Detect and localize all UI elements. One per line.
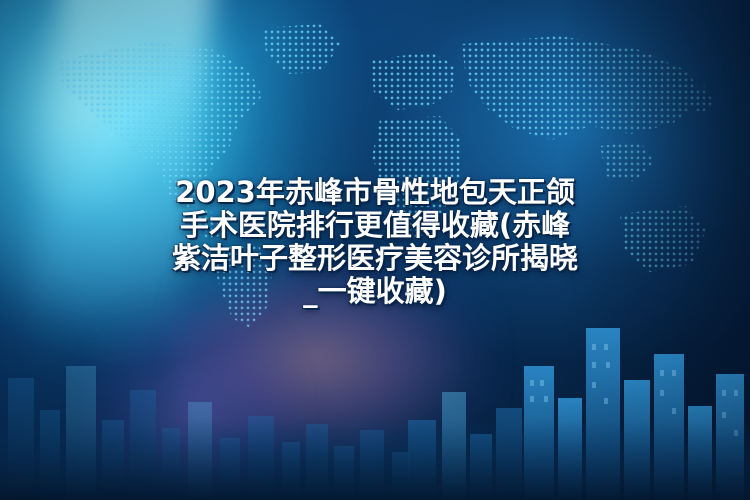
title-line-3: 紫洁叶子整形医疗美容诊所揭晓 [0, 242, 750, 275]
promotional-banner: 2023年赤峰市骨性地包天正颌 手术医院排行更值得收藏(赤峰 紫洁叶子整形医疗美… [0, 0, 750, 500]
title-line-2: 手术医院排行更值得收藏(赤峰 [0, 209, 750, 242]
title-line-4: _一键收藏) [0, 275, 750, 308]
title-line-1: 2023年赤峰市骨性地包天正颌 [0, 176, 750, 209]
banner-title: 2023年赤峰市骨性地包天正颌 手术医院排行更值得收藏(赤峰 紫洁叶子整形医疗美… [0, 176, 750, 308]
